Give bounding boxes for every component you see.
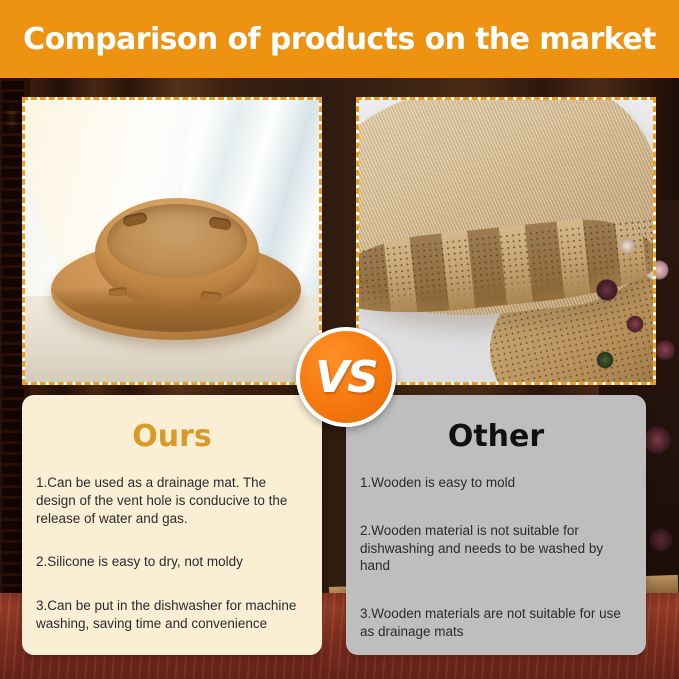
vs-badge-label: VS <box>315 352 377 403</box>
other-panel-title: Other <box>360 419 632 454</box>
other-bullet-3: 3.Wooden materials are not suitable for … <box>360 605 632 641</box>
mat-foot <box>201 291 222 301</box>
other-product-photo <box>356 97 656 385</box>
photo-flowers <box>587 220 656 385</box>
page-title: Comparison of products on the market <box>23 22 656 57</box>
ours-bullet-2: 2.Silicone is easy to dry, not moldy <box>36 553 308 571</box>
ours-comparison-panel: Ours 1.Can be used as a drainage mat. Th… <box>22 395 322 655</box>
ours-bullet-3: 3.Can be put in the dishwasher for machi… <box>36 597 308 633</box>
ours-product-photo <box>22 97 322 385</box>
header-banner: Comparison of products on the market <box>0 0 679 78</box>
vs-badge: VS <box>296 327 396 427</box>
ours-photo-scene <box>25 100 319 382</box>
other-bullet-2: 2.Wooden material is not suitable for di… <box>360 522 632 575</box>
ours-panel-title: Ours <box>36 419 308 454</box>
other-photo-scene <box>359 100 653 382</box>
silicone-mat-illustration <box>51 192 301 342</box>
other-bullet-1: 1.Wooden is easy to mold <box>360 474 632 492</box>
ours-bullet-1: 1.Can be used as a drainage mat. The des… <box>36 474 308 527</box>
other-comparison-panel: Other 1.Wooden is easy to mold 2.Wooden … <box>346 395 646 655</box>
infographic-root: Comparison of products on the market <box>0 0 679 679</box>
